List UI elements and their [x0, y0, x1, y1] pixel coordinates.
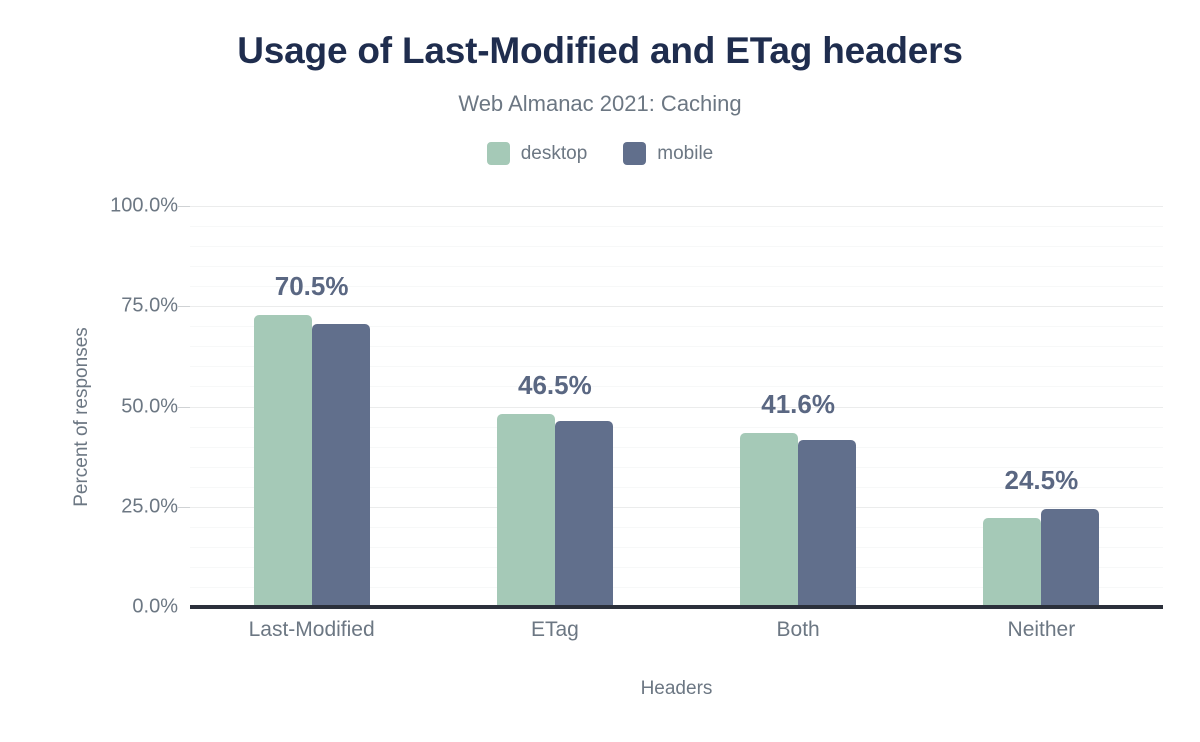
- bar-desktop-both[interactable]: [740, 433, 798, 607]
- bar-value-label-neither: 24.5%: [1005, 465, 1079, 496]
- legend-swatch-desktop: [487, 142, 510, 165]
- bar-mobile-neither[interactable]: [1041, 509, 1099, 607]
- legend-item-mobile[interactable]: mobile: [623, 142, 713, 165]
- y-axis-tick-label: 50.0%: [38, 395, 178, 418]
- y-axis-tick-mark: [178, 306, 190, 307]
- y-axis-tick-mark: [178, 407, 190, 408]
- chart-container: Usage of Last-Modified and ETag headers …: [0, 0, 1200, 742]
- bar-desktop-neither[interactable]: [983, 518, 1041, 607]
- y-axis-tick-label: 25.0%: [38, 495, 178, 518]
- y-axis-tick-label: 100.0%: [38, 195, 178, 218]
- y-axis-tick-mark: [178, 507, 190, 508]
- gridline-minor: [190, 246, 1163, 247]
- gridline-minor: [190, 266, 1163, 267]
- x-axis-tick-both: Both: [777, 618, 820, 642]
- x-axis-tick-last-modified: Last-Modified: [249, 618, 375, 642]
- y-axis-tick-label: 0.0%: [38, 596, 178, 619]
- bar-desktop-etag[interactable]: [497, 414, 555, 607]
- x-axis-baseline: [190, 605, 1163, 609]
- x-axis-tick-neither: Neither: [1008, 618, 1076, 642]
- chart-subtitle: Web Almanac 2021: Caching: [0, 91, 1200, 117]
- legend-swatch-mobile: [623, 142, 646, 165]
- gridline-major: [190, 306, 1163, 307]
- legend-label-mobile: mobile: [657, 143, 713, 165]
- legend-label-desktop: desktop: [521, 143, 588, 165]
- y-axis-tick-mark: [178, 607, 190, 608]
- bar-value-label-etag: 46.5%: [518, 370, 592, 401]
- bar-value-label-last-modified: 70.5%: [275, 271, 349, 302]
- legend-item-desktop[interactable]: desktop: [487, 142, 588, 165]
- chart-title: Usage of Last-Modified and ETag headers: [0, 30, 1200, 72]
- x-axis-label: Headers: [190, 678, 1163, 700]
- bar-value-label-both: 41.6%: [761, 389, 835, 420]
- bar-mobile-etag[interactable]: [555, 421, 613, 607]
- x-axis-tick-etag: ETag: [531, 618, 579, 642]
- gridline-major: [190, 206, 1163, 207]
- y-axis-tick-label: 75.0%: [38, 295, 178, 318]
- bar-mobile-both[interactable]: [798, 440, 856, 607]
- bar-mobile-last-modified[interactable]: [312, 324, 370, 607]
- y-axis-tick-mark: [178, 206, 190, 207]
- chart-legend: desktopmobile: [0, 142, 1200, 165]
- bar-desktop-last-modified[interactable]: [254, 315, 312, 607]
- plot-area: [190, 206, 1163, 607]
- y-axis-label: Percent of responses: [71, 267, 93, 567]
- gridline-minor: [190, 226, 1163, 227]
